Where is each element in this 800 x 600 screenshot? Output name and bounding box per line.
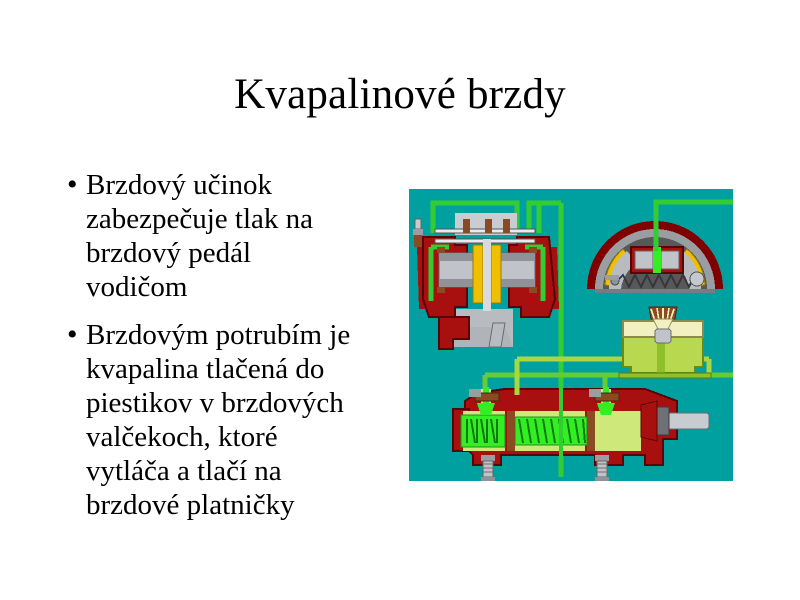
disc-brake-caliper	[413, 213, 559, 349]
bullet-list: • Brzdový učinok zabezpečuje tlak na brz…	[62, 168, 402, 536]
presentation-slide: Kvapalinové brzdy • Brzdový učinok zabez…	[0, 0, 800, 600]
hydraulic-brake-system-diagram	[409, 189, 733, 481]
bullet-text: Brzdovým potrubím je kvapalina tlačená d…	[86, 318, 402, 522]
list-item: • Brzdový učinok zabezpečuje tlak na brz…	[62, 168, 402, 304]
page-title: Kvapalinové brzdy	[0, 72, 800, 117]
bleed-screw-left	[481, 455, 495, 481]
fluid-reservoir-valve	[619, 307, 711, 378]
drum-brake-assembly	[587, 219, 723, 293]
bullet-point-icon: •	[62, 168, 86, 202]
master-cylinder	[453, 385, 709, 481]
bleed-nipple-icon	[413, 219, 423, 247]
bullet-text: Brzdový učinok zabezpečuje tlak na brzdo…	[86, 168, 402, 304]
bullet-point-icon: •	[62, 318, 86, 352]
bleed-screw-right	[595, 455, 609, 481]
list-item: • Brzdovým potrubím je kvapalina tlačená…	[62, 318, 402, 522]
